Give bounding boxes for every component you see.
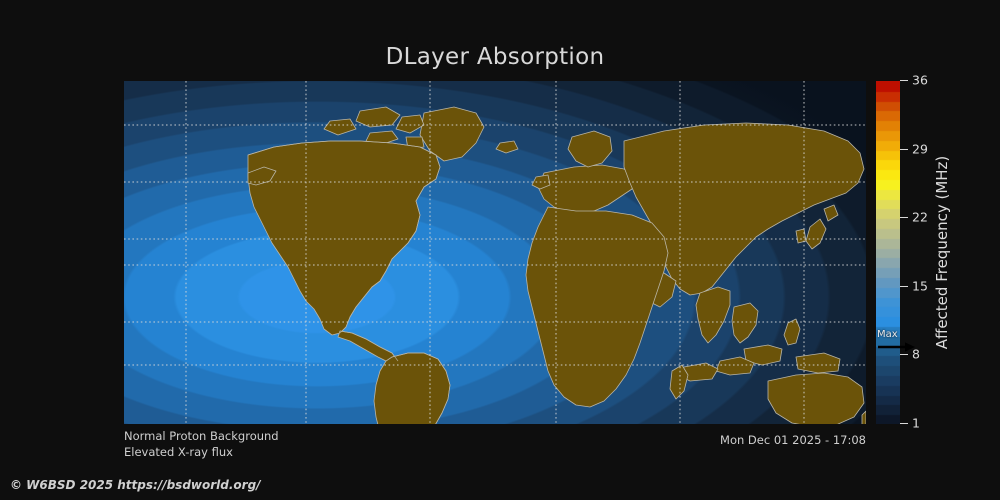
status-proton-background: Normal Proton Background [124, 429, 279, 443]
colorbar-tick-mark [900, 286, 908, 287]
colorbar[interactable] [876, 81, 900, 424]
colorbar-tick-label: 29 [912, 141, 928, 156]
footer-credit: © W6BSD 2025 https://bsdworld.org/ [10, 478, 261, 492]
colorbar-tick-label: 22 [912, 210, 928, 225]
colorbar-tick-label: 15 [912, 278, 928, 293]
colorbar-gradient [876, 81, 900, 424]
status-xray-flux: Elevated X-ray flux [124, 445, 233, 459]
page-title: DLayer Absorption [0, 44, 990, 70]
dlayer-absorption-app: DLayer Absorption [0, 0, 1000, 500]
colorbar-tick-mark [900, 80, 908, 81]
world-map[interactable] [124, 81, 866, 424]
colorbar-tick-label: 1 [912, 416, 920, 431]
colorbar-tick-mark [900, 354, 908, 355]
colorbar-tick-mark [900, 149, 908, 150]
world-map-svg [124, 81, 866, 424]
timestamp: Mon Dec 01 2025 - 17:08 [720, 433, 866, 447]
colorbar-tick-mark [900, 217, 908, 218]
colorbar-tick-label: 8 [912, 347, 920, 362]
colorbar-axis-label: Affected Frequency (MHz) [930, 81, 954, 424]
colorbar-tick-label: 36 [912, 73, 928, 88]
colorbar-tick-mark [900, 423, 908, 424]
